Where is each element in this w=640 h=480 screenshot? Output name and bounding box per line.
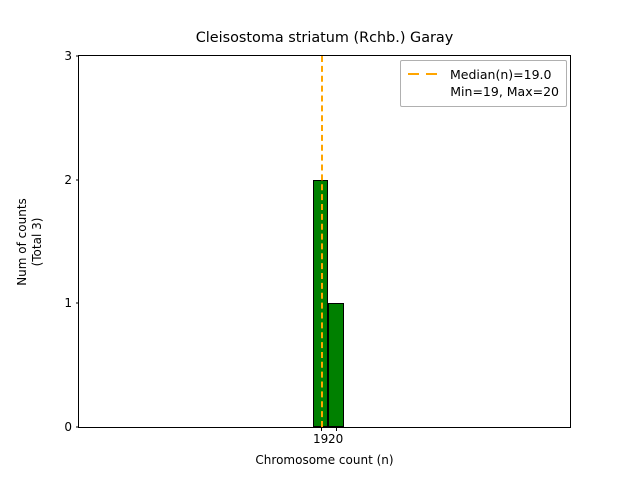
y-tick-label-1: 1 — [46, 297, 79, 309]
y-axis-label-line2: (Total 3) — [30, 198, 45, 286]
x-tick-mark-19 — [321, 427, 322, 431]
x-tick-mark-20 — [336, 427, 337, 431]
legend-entry-label: Median(n)=19.0 Min=19, Max=20 — [450, 66, 559, 100]
y-tick-label-3: 3 — [46, 50, 79, 62]
plot-area: 0 1 2 3 19 20 — [78, 55, 571, 428]
x-axis-label: Chromosome count (n) — [78, 453, 571, 467]
x-tick-label-20: 20 — [328, 433, 343, 446]
legend-median-text: Median(n)=19.0 — [450, 66, 559, 83]
x-tick-label-19: 19 — [313, 433, 328, 446]
y-axis-label-line1: Num of counts — [15, 198, 30, 286]
bar-20 — [328, 303, 343, 427]
matplotlib-figure: Cleisostoma striatum (Rchb.) Garay Num o… — [0, 0, 640, 480]
legend-minmax-text: Min=19, Max=20 — [450, 83, 559, 100]
y-tick-label-0: 0 — [46, 421, 79, 433]
bars-layer — [79, 56, 570, 427]
legend: Median(n)=19.0 Min=19, Max=20 — [400, 60, 567, 107]
dashed-line-icon — [408, 68, 441, 82]
page-title: Cleisostoma striatum (Rchb.) Garay — [78, 30, 571, 46]
y-axis-label: Num of counts (Total 3) — [11, 55, 49, 428]
y-tick-label-2: 2 — [46, 174, 79, 186]
legend-entry-median: Median(n)=19.0 Min=19, Max=20 — [408, 66, 559, 100]
median-line — [321, 56, 323, 427]
